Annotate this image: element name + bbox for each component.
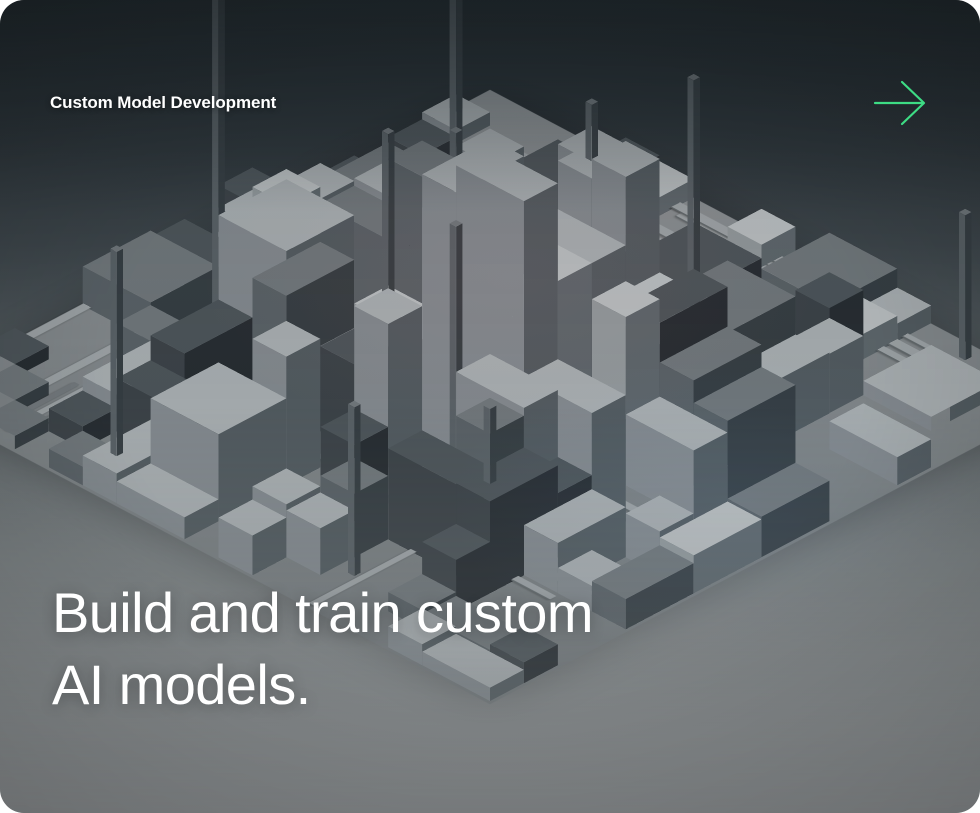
- card-cta-button[interactable]: [870, 78, 930, 128]
- headline-line-2: AI models.: [52, 649, 593, 721]
- headline-line-1: Build and train custom: [52, 577, 593, 649]
- arrow-right-icon: [872, 80, 928, 126]
- artwork-block: [728, 208, 796, 244]
- artwork-pole: [959, 208, 972, 215]
- card-header: Custom Model Development: [50, 78, 930, 128]
- card-headline: Build and train custom AI models.: [52, 577, 593, 721]
- feature-card[interactable]: Custom Model Development Build and train…: [0, 0, 980, 813]
- card-eyebrow-label: Custom Model Development: [50, 93, 276, 113]
- artwork-pole: [382, 127, 395, 134]
